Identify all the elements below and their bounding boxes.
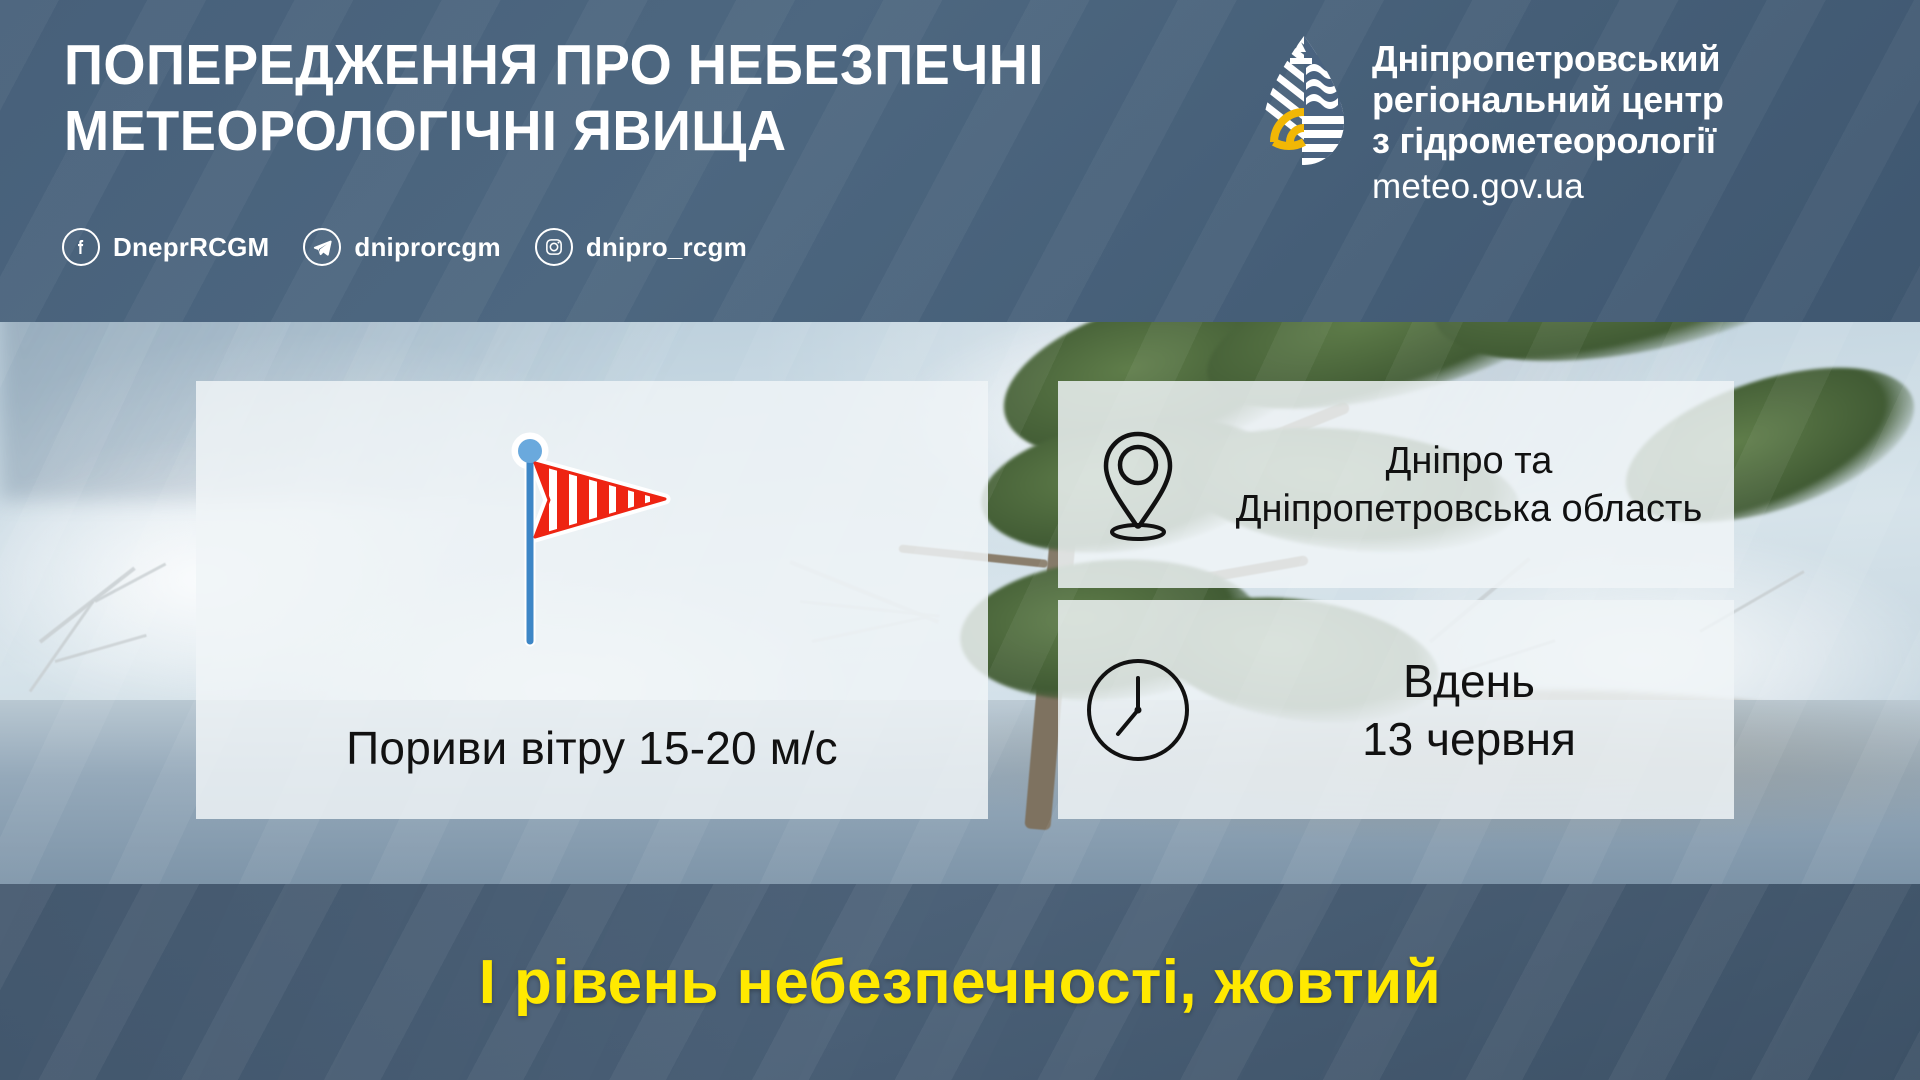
location-line1: Дніпро та: [1218, 437, 1720, 485]
telegram-icon: [303, 228, 341, 266]
page-title: ПОПЕРЕДЖЕННЯ ПРО НЕБЕЗПЕЧНІ МЕТЕОРОЛОГІЧ…: [64, 32, 1223, 164]
social-handle-facebook: DneprRCGM: [113, 232, 269, 263]
danger-level-banner: І рівень небезпечності, жовтий: [0, 884, 1920, 1080]
location-card: Дніпро та Дніпропетровська область: [1058, 381, 1734, 588]
org-name-line3: з гідрометеорології: [1372, 120, 1724, 161]
wind-warning-card: Пориви вітру 15-20 м/с: [196, 381, 988, 819]
page-title-line2: МЕТЕОРОЛОГІЧНІ ЯВИЩА: [64, 98, 1223, 164]
social-handle-instagram: dnipro_rcgm: [586, 232, 747, 263]
social-link-facebook[interactable]: DneprRCGM: [62, 228, 269, 266]
org-name-line1: Дніпропетровський: [1372, 38, 1724, 79]
wind-warning-text: Пориви вітру 15-20 м/с: [196, 721, 988, 775]
social-link-instagram[interactable]: dnipro_rcgm: [535, 228, 747, 266]
instagram-icon: [535, 228, 573, 266]
danger-level-text: І рівень небезпечності, жовтий: [479, 947, 1441, 1018]
header-bar: ПОПЕРЕДЖЕННЯ ПРО НЕБЕЗПЕЧНІ МЕТЕОРОЛОГІЧ…: [0, 0, 1920, 322]
organisation-name: Дніпропетровський регіональний центр з г…: [1372, 34, 1724, 209]
social-link-telegram[interactable]: dniprorcgm: [303, 228, 500, 266]
clock-icon: [1058, 656, 1218, 764]
wind-pennant-flag-icon: [196, 425, 988, 655]
date-text: Вдень 13 червня: [1218, 652, 1734, 768]
location-line2: Дніпропетровська область: [1218, 485, 1720, 533]
location-text: Дніпро та Дніпропетровська область: [1218, 437, 1734, 533]
org-name-line2: регіональний центр: [1372, 79, 1724, 120]
facebook-icon: [62, 228, 100, 266]
date-card: Вдень 13 червня: [1058, 600, 1734, 819]
social-handle-telegram: dniprorcgm: [354, 232, 500, 263]
page-title-line1: ПОПЕРЕДЖЕННЯ ПРО НЕБЕЗПЕЧНІ: [64, 33, 1044, 97]
social-links: DneprRCGM dniprorcgm d: [62, 228, 747, 266]
water-droplet-logo-icon: [1258, 34, 1350, 172]
org-website-url[interactable]: meteo.gov.ua: [1372, 165, 1724, 209]
organisation-logo[interactable]: Дніпропетровський регіональний центр з г…: [1258, 34, 1724, 209]
date-line1: Вдень: [1218, 652, 1720, 710]
map-pin-icon: [1058, 428, 1218, 542]
date-line2: 13 червня: [1218, 710, 1720, 768]
